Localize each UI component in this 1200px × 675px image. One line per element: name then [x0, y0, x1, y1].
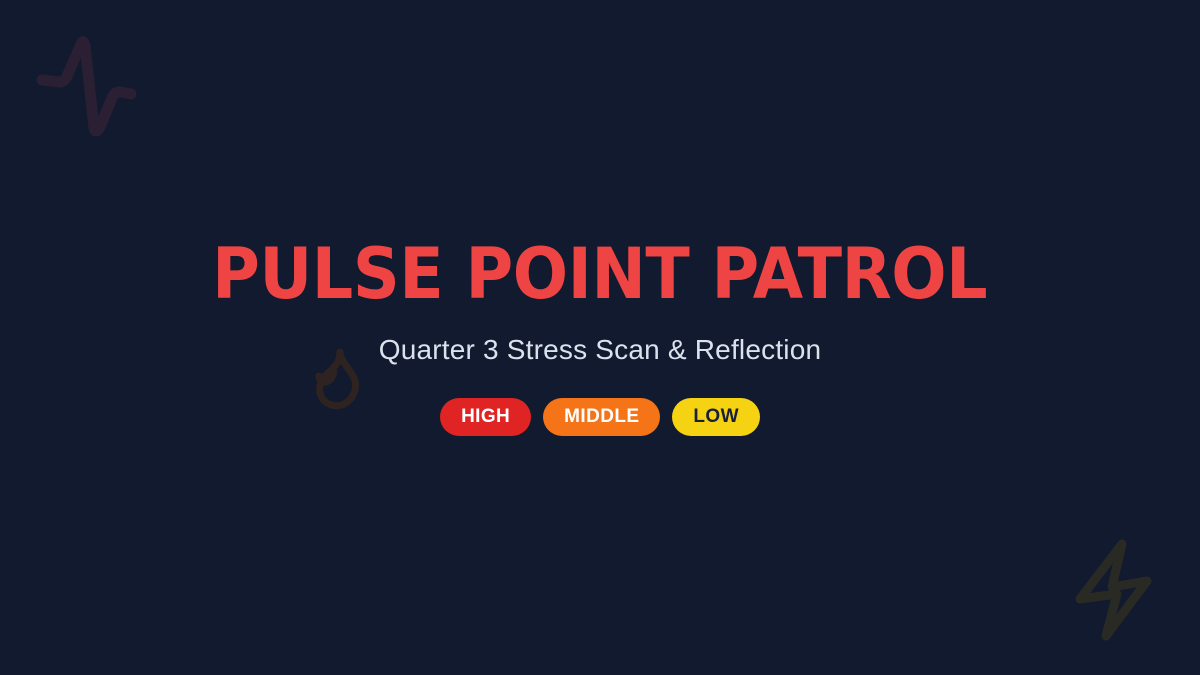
status-badge-low[interactable]: LOW	[672, 398, 760, 436]
page-subtitle: Quarter 3 Stress Scan & Reflection	[379, 309, 822, 366]
title-slide: PULSE POINT PATROL Quarter 3 Stress Scan…	[0, 0, 1200, 675]
severity-badge-group: HIGH MIDDLE LOW	[440, 365, 760, 436]
page-title: PULSE POINT PATROL	[213, 239, 988, 309]
status-badge-high[interactable]: HIGH	[440, 398, 531, 436]
status-badge-middle[interactable]: MIDDLE	[543, 398, 660, 436]
slide-content: PULSE POINT PATROL Quarter 3 Stress Scan…	[0, 0, 1200, 675]
